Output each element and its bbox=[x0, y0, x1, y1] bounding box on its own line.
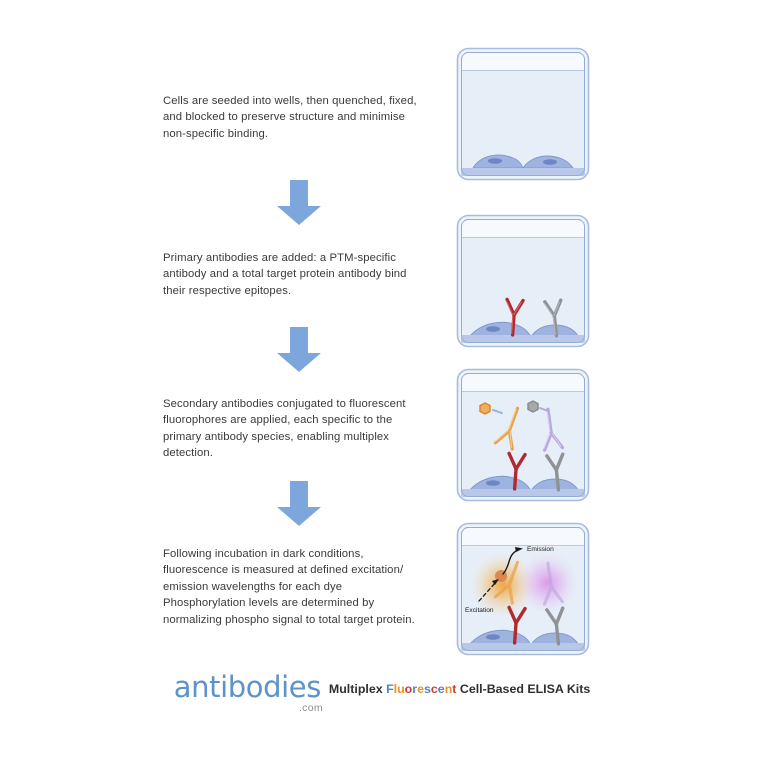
flow-arrow-1 bbox=[275, 180, 323, 226]
logo-domain-suffix: .com bbox=[299, 702, 323, 714]
antibodies-logo[interactable]: antibodies .com bbox=[174, 672, 321, 702]
well-fluorescence-readout: Emission Excitation bbox=[455, 521, 591, 657]
emission-label: Emission bbox=[527, 546, 554, 553]
tagline-fluorescent: Fluorescent bbox=[386, 682, 456, 696]
well-seeded-cells bbox=[455, 46, 591, 182]
step-4-line-4: Phosphorylation levels are determined by bbox=[163, 595, 435, 611]
step-2-text: Primary antibodies are added: a PTM-spec… bbox=[163, 250, 435, 299]
tagline-suffix: Cell-Based ELISA Kits bbox=[456, 682, 590, 696]
flow-arrow-3 bbox=[275, 481, 323, 527]
well-primary-antibodies bbox=[455, 213, 591, 349]
step-2-line-1: Primary antibodies are added: a PTM-spec… bbox=[163, 250, 435, 266]
step-3-line-2: fluorophores are applied, each specific … bbox=[163, 412, 435, 428]
step-4-line-5: normalizing phospho signal to total targ… bbox=[163, 612, 435, 628]
excitation-label: Excitation bbox=[465, 607, 494, 614]
step-4-line-1: Following incubation in dark conditions, bbox=[163, 546, 435, 562]
step-1-line-3: non-specific binding. bbox=[163, 126, 435, 142]
step-3-line-3: primary antibody species, enabling multi… bbox=[163, 429, 435, 445]
step-1-text: Cells are seeded into wells, then quench… bbox=[163, 93, 435, 142]
step-1-line-1: Cells are seeded into wells, then quench… bbox=[163, 93, 435, 109]
footer-branding: antibodies .com Multiplex Fluorescent Ce… bbox=[0, 672, 764, 722]
step-4-line-2: fluorescence is measured at defined exci… bbox=[163, 562, 435, 578]
logo-wordmark: antibodies bbox=[174, 672, 321, 702]
flow-arrow-2 bbox=[275, 327, 323, 373]
well-secondary-antibodies bbox=[455, 367, 591, 503]
step-3-text: Secondary antibodies conjugated to fluor… bbox=[163, 396, 435, 462]
step-4-line-3: emission wavelengths for each dye bbox=[163, 579, 435, 595]
tagline-prefix: Multiplex bbox=[329, 682, 386, 696]
glow-magenta bbox=[516, 552, 578, 614]
step-2-line-3: their respective epitopes. bbox=[163, 283, 435, 299]
step-4-text: Following incubation in dark conditions,… bbox=[163, 546, 435, 628]
footer-tagline: Multiplex Fluorescent Cell-Based ELISA K… bbox=[329, 674, 590, 704]
step-3-line-1: Secondary antibodies conjugated to fluor… bbox=[163, 396, 435, 412]
diagram-page: Cells are seeded into wells, then quench… bbox=[0, 0, 764, 764]
step-1-line-2: and blocked to preserve structure and mi… bbox=[163, 109, 435, 125]
step-3-line-4: detection. bbox=[163, 445, 435, 461]
step-2-line-2: antibody and a total target protein anti… bbox=[163, 266, 435, 282]
